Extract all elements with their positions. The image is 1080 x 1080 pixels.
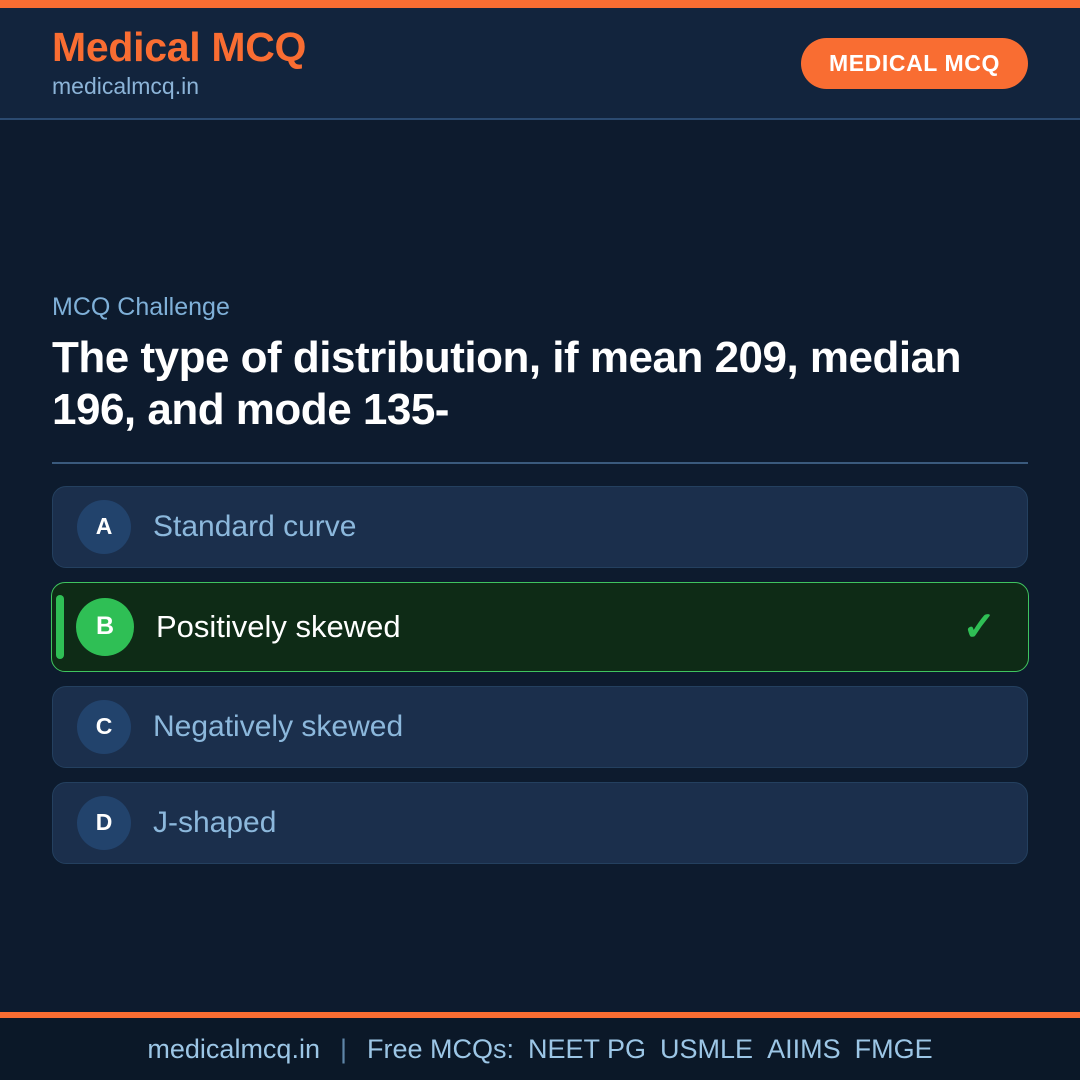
- footer-exam-usmle: USMLE: [646, 1034, 753, 1065]
- option-letter-badge: A: [77, 500, 131, 554]
- question-zone: MCQ Challenge The type of distribution, …: [52, 292, 1028, 436]
- footer-exam-aiims: AIIMS: [753, 1034, 841, 1065]
- footer-exam-fmge: FMGE: [841, 1034, 933, 1065]
- brand-title: Medical MCQ: [52, 26, 306, 69]
- option-label: Negatively skewed: [153, 709, 995, 745]
- option-letter-badge: C: [77, 700, 131, 754]
- option-letter-badge: D: [77, 796, 131, 850]
- option-label: Positively skewed: [156, 608, 962, 645]
- footer: medicalmcq.in | Free MCQs: NEET PG USMLE…: [0, 1012, 1080, 1080]
- question-eyebrow: MCQ Challenge: [52, 292, 1028, 322]
- brand-subtitle: medicalmcq.in: [52, 73, 306, 101]
- option-a[interactable]: A Standard curve: [52, 486, 1028, 568]
- option-label: Standard curve: [153, 509, 995, 545]
- mcq-card: Medical MCQ medicalmcq.in MEDICAL MCQ MC…: [0, 0, 1080, 1080]
- main-content: MCQ Challenge The type of distribution, …: [0, 120, 1080, 1012]
- option-c[interactable]: C Negatively skewed: [52, 686, 1028, 768]
- header-badge: MEDICAL MCQ: [801, 38, 1028, 89]
- option-accent-bar: [56, 595, 64, 659]
- footer-text: medicalmcq.in | Free MCQs: NEET PG USMLE…: [147, 1034, 932, 1065]
- brand-block: Medical MCQ medicalmcq.in: [52, 26, 306, 101]
- options-list: A Standard curve B Positively skewed ✓ C…: [52, 486, 1028, 864]
- question-divider: [52, 462, 1028, 464]
- option-d[interactable]: D J-shaped: [52, 782, 1028, 864]
- question-text: The type of distribution, if mean 209, m…: [52, 332, 1028, 436]
- footer-separator: |: [320, 1034, 367, 1065]
- footer-site: medicalmcq.in: [147, 1034, 320, 1065]
- header: Medical MCQ medicalmcq.in MEDICAL MCQ: [0, 8, 1080, 120]
- footer-exams-prefix: Free MCQs:: [367, 1034, 514, 1065]
- option-letter-badge: B: [76, 598, 134, 656]
- check-icon: ✓: [962, 607, 996, 647]
- option-b[interactable]: B Positively skewed ✓: [51, 582, 1029, 672]
- footer-exam-neet-pg: NEET PG: [514, 1034, 646, 1065]
- top-accent-bar: [0, 0, 1080, 8]
- option-label: J-shaped: [153, 805, 995, 841]
